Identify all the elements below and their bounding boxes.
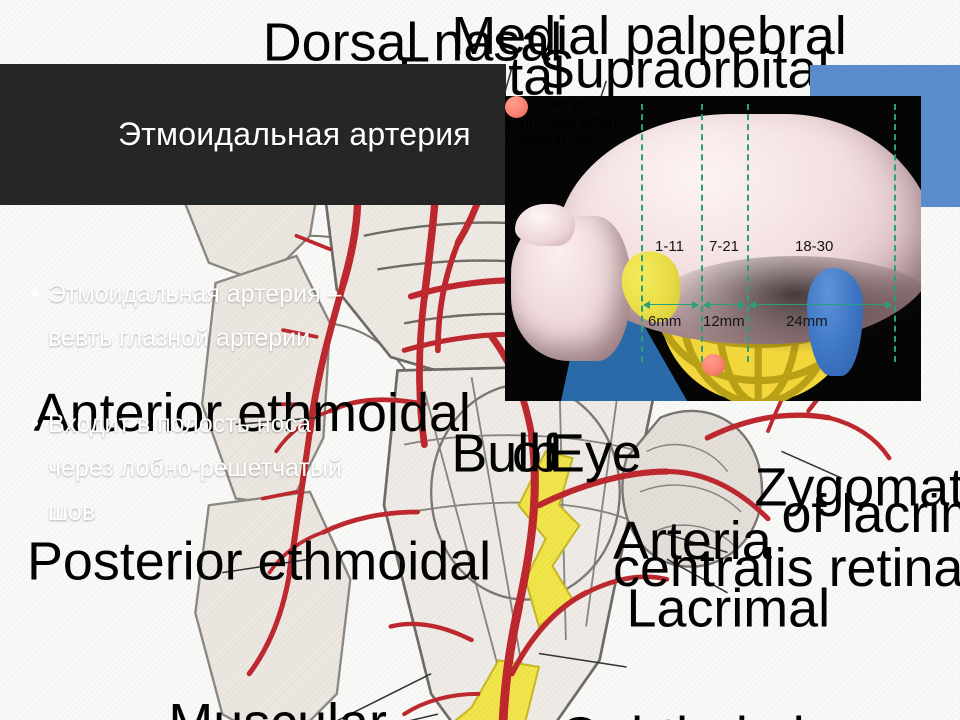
bullet-line: шов	[48, 490, 482, 534]
illustration-label: Lacrimal	[627, 579, 831, 639]
measure-distance-label: 12mm	[703, 313, 745, 330]
illustration-label: Muscular	[168, 693, 387, 720]
page-title: Этмоидальная артерия	[0, 64, 560, 205]
measure-arrow	[644, 304, 698, 305]
slide-canvas: Этмоидальная артерия • Этмоидальная арте…	[0, 0, 960, 720]
illustration-label: Posterior ethmoidal	[27, 531, 491, 591]
measure-guide-line	[894, 104, 896, 362]
bullet-line: Входит в полость носа	[48, 402, 311, 446]
measure-arrow	[750, 304, 891, 305]
measure-guide-line	[641, 104, 643, 362]
illustration-label: of lacrimal	[781, 484, 960, 544]
bullet-marker: •	[22, 272, 48, 316]
measure-guide-line	[747, 104, 749, 362]
bullet-line: Этмоидальная артерия –	[48, 272, 341, 316]
bone-notch	[515, 204, 575, 246]
measure-distance-label: 24mm	[786, 313, 828, 330]
illustration-label: Supraorbital	[539, 40, 830, 100]
list-item: • Входит в полость носа через лобно-реше…	[22, 402, 482, 534]
measure-range-label: 18-30	[795, 238, 833, 255]
ethmoidal-artery-marker	[505, 96, 528, 118]
measure-arrow	[704, 304, 744, 305]
bullet-list: • Этмоидальная артерия – вевть глазной а…	[22, 272, 482, 534]
illustration-label: Eye	[549, 424, 642, 484]
measure-distance-label: 6mm	[648, 313, 681, 330]
bullet-line: вевть глазной артерии	[48, 316, 482, 360]
measure-range-label: 7-21	[709, 238, 739, 255]
anatomy-photo: 1-11 7-21 18-30 6mm 12mm 24mm Optic nerv…	[505, 96, 921, 401]
photo-caption-optic-nerve: Optic nerve	[505, 96, 921, 114]
list-item: • Этмоидальная артерия – вевть глазной а…	[22, 272, 482, 360]
bullet-line: через лобно-решетчатый	[48, 446, 482, 490]
bullet-marker: •	[22, 402, 48, 446]
ethmoidal-artery-marker	[702, 354, 725, 376]
illustration-label: Ophthalmic	[559, 707, 831, 720]
measure-range-label: 1-11	[655, 238, 684, 255]
